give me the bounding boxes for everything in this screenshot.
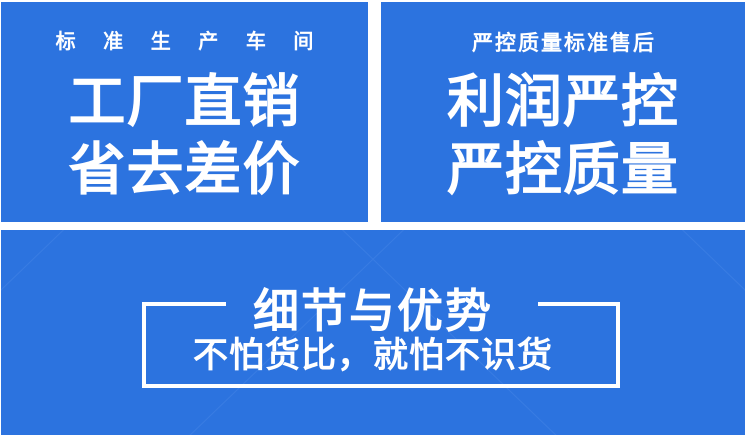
panel-factory-direct-eyebrow: 标 准 生 产 车 间 [1,32,368,52]
panel-quality-control-headline-line2: 严控质量 [381,142,745,199]
section-subtitle-details-advantages: 不怕货比，就怕不识货 [1,338,745,373]
panel-quality-control: 严控质量标准售后 利润严控 严控质量 [381,2,745,222]
panel-factory-direct-headline-line1: 工厂直销 [1,74,368,131]
panel-quality-control-eyebrow: 严控质量标准售后 [381,33,745,54]
promo-banner: 标 准 生 产 车 间 工厂直销 省去差价 严控质量标准售后 利润严控 严控质量… [0,0,750,440]
panel-factory-direct-headline-line2: 省去差价 [1,142,368,199]
panel-quality-control-headline-line1: 利润严控 [381,74,745,131]
panel-factory-direct: 标 准 生 产 车 间 工厂直销 省去差价 [1,2,368,222]
section-title-details-advantages: 细节与优势 [1,288,745,334]
panel-details-advantages: 细节与优势 不怕货比，就怕不识货 [1,230,745,435]
